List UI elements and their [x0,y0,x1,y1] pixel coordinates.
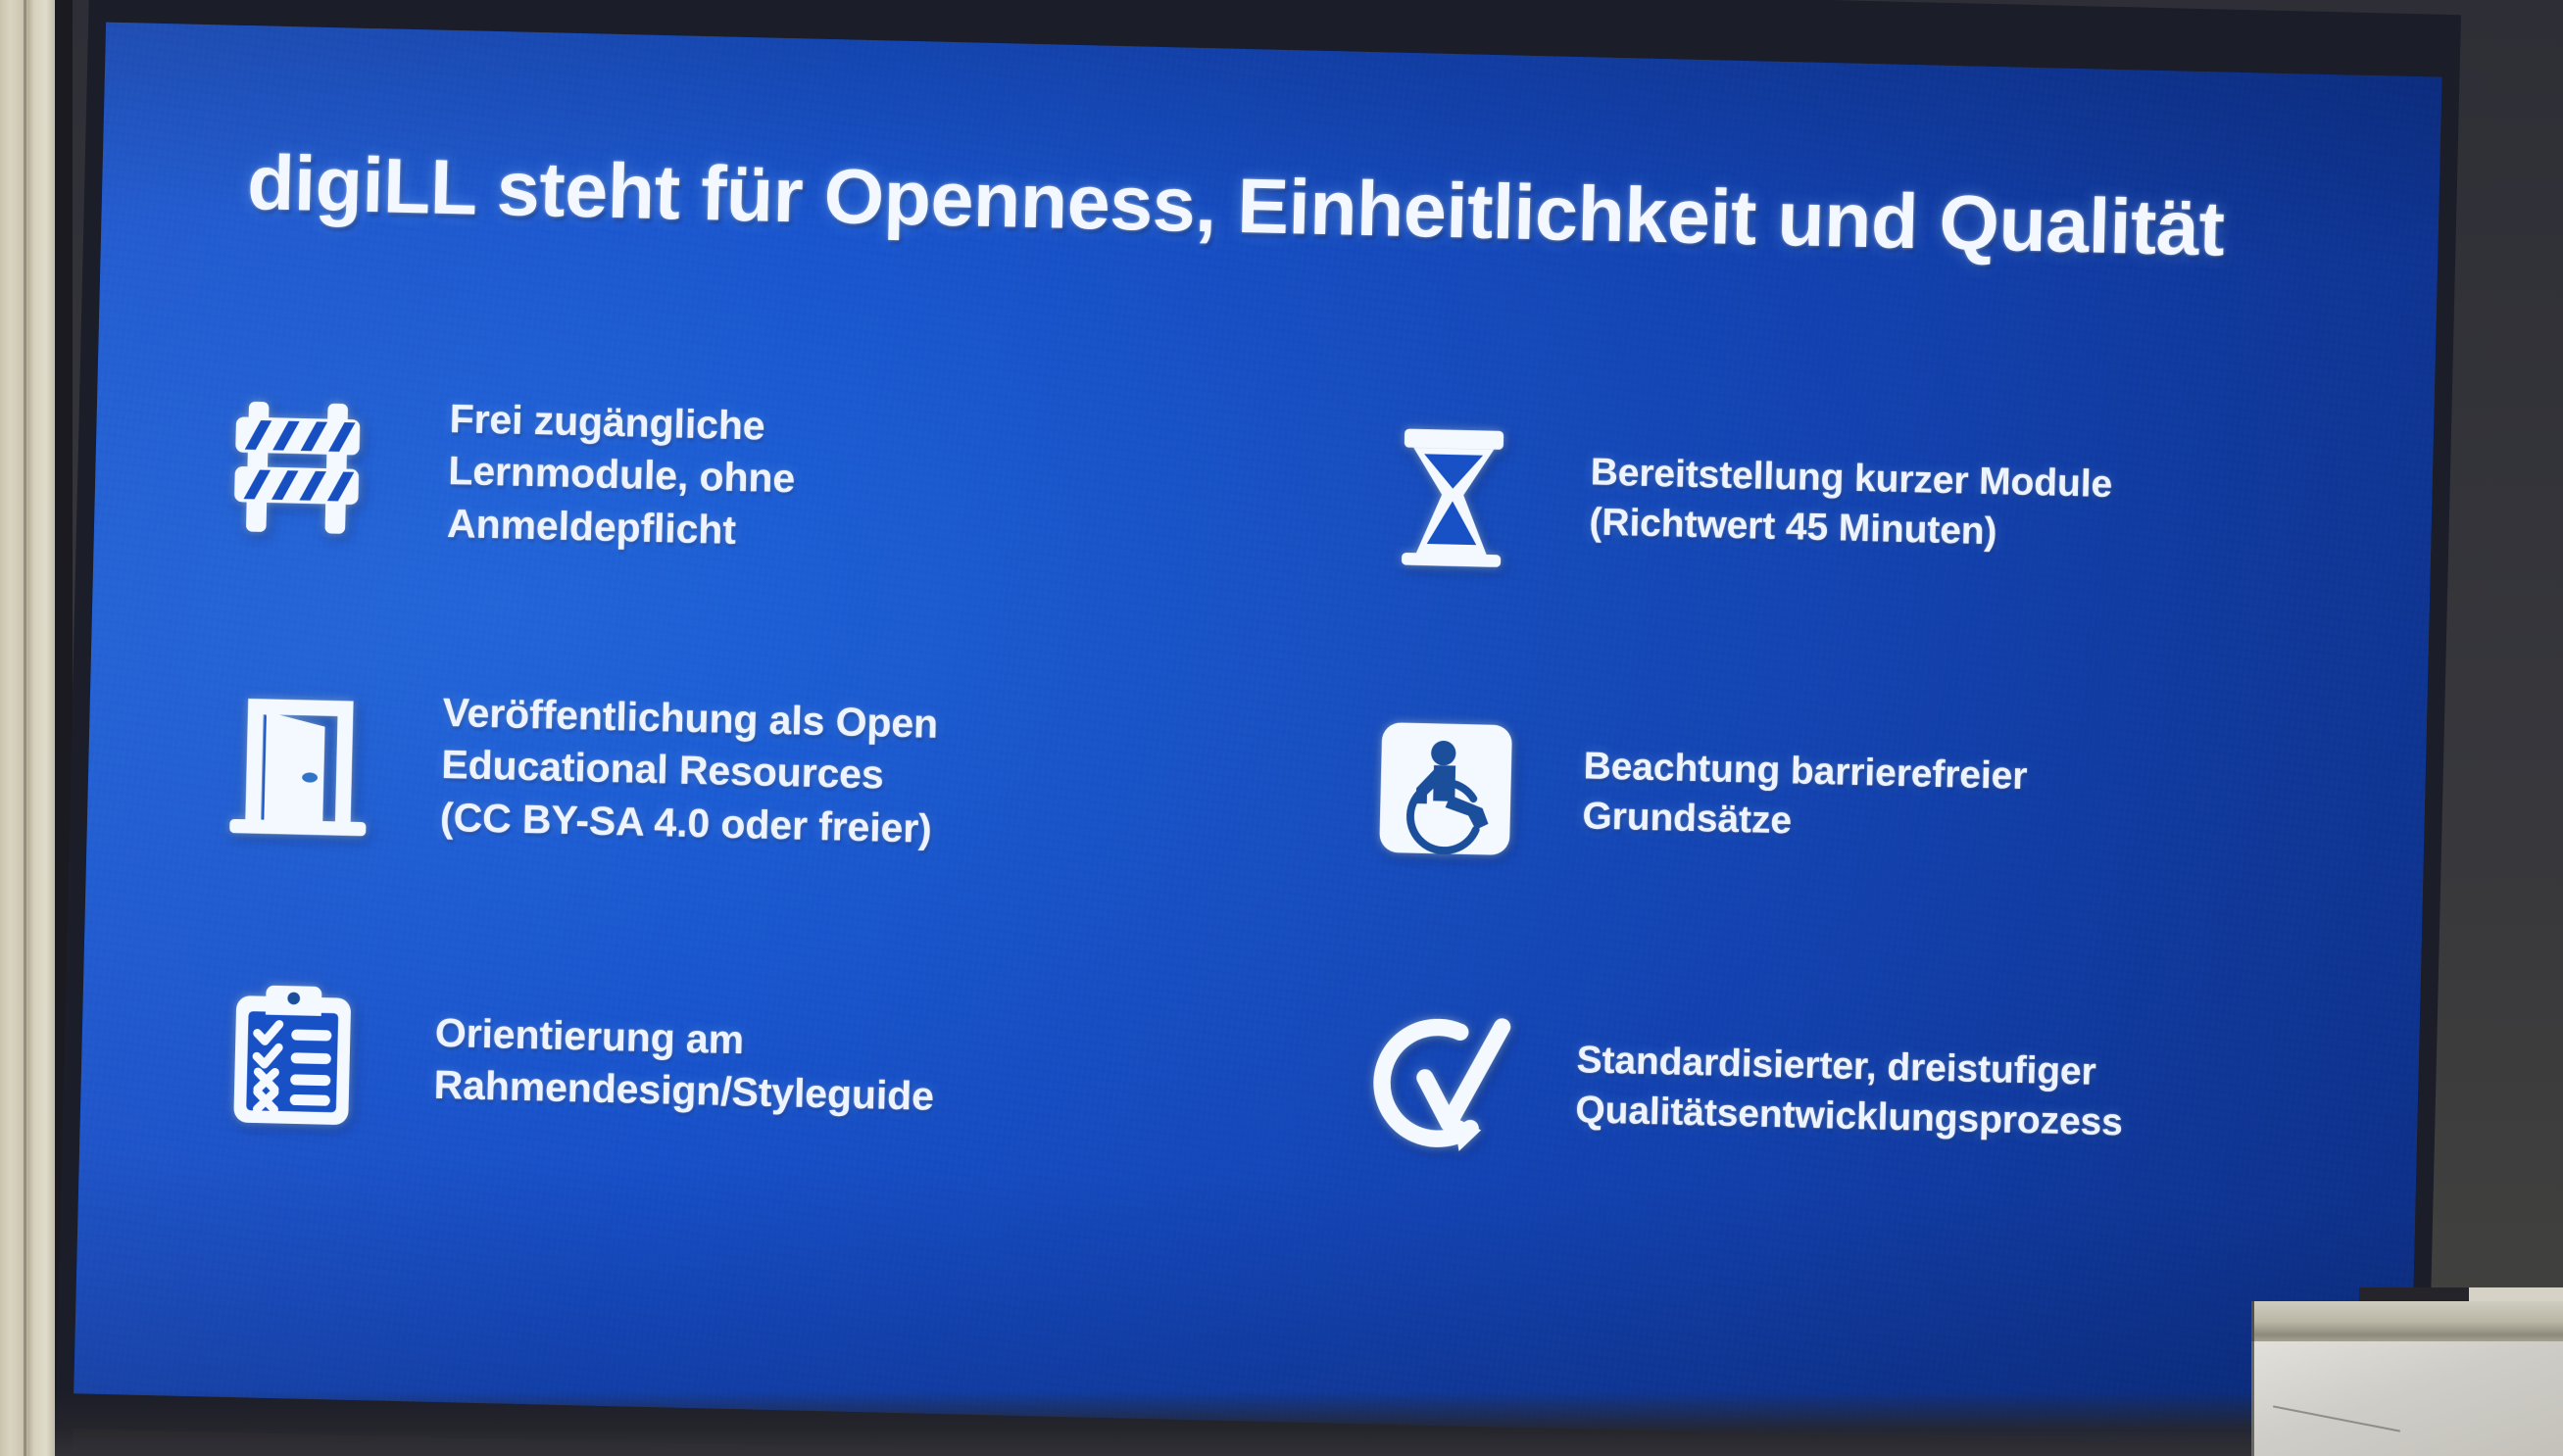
projection-screen: digiLL steht für Openness, Einheitlichke… [55,0,2461,1456]
feature-item-open-educational-resources: Veröffentlichung als Open Educational Re… [193,612,1205,930]
feature-item-quality-process: Standardisierter, dreistufiger Qualitäts… [1338,934,2349,1251]
feature-item-open-access: Frei zugängliche Lernmodule, ohne Anmeld… [200,318,1211,636]
presentation-slide: digiLL steht für Openness, Einheitlichke… [74,23,2441,1449]
wall-strip-seam [24,0,26,1456]
bottom-shadow-band [55,1391,2563,1456]
feature-label: Standardisierter, dreistufiger Qualitäts… [1575,1037,2125,1149]
feature-label: Orientierung am Rahmendesign/Styleguide [433,1007,936,1124]
wall-strip-left [0,0,55,1456]
wheelchair-accessibility-icon [1346,684,1547,895]
feature-label: Bereitstellung kurzer Module (Richtwert … [1589,449,2113,560]
flipchart-paper-crease [2273,1405,2400,1432]
feature-item-accessibility: Beachtung barrierefreier Grundsätze [1345,640,2356,957]
feature-grid: Frei zugängliche Lernmodule, ohne Anmeld… [186,318,2363,1251]
barrier-icon [201,363,412,573]
clipboard-checklist-icon [187,950,398,1161]
feature-item-short-modules: Bereitstellung kurzer Module (Richtwert … [1352,346,2363,663]
feature-label: Veröffentlichung als Open Educational Re… [440,687,939,855]
feature-item-styleguide: Orientierung am Rahmendesign/Styleguide [186,906,1198,1224]
hourglass-icon [1353,390,1553,601]
slide-title: digiLL steht für Openness, Einheitlichke… [246,141,2325,272]
flipchart-top-rail [2251,1301,2563,1344]
checkmark-cycle-icon [1339,978,1540,1189]
flipchart-paper [2251,1341,2563,1456]
feature-label: Frei zugängliche Lernmodule, ohne Anmeld… [447,393,797,558]
open-door-icon [194,656,405,867]
photo-scene: digiLL steht für Openness, Einheitlichke… [0,0,2563,1456]
flipchart-corner [2251,1287,2563,1456]
feature-label: Beachtung barrierefreier Grundsätze [1582,743,2028,852]
